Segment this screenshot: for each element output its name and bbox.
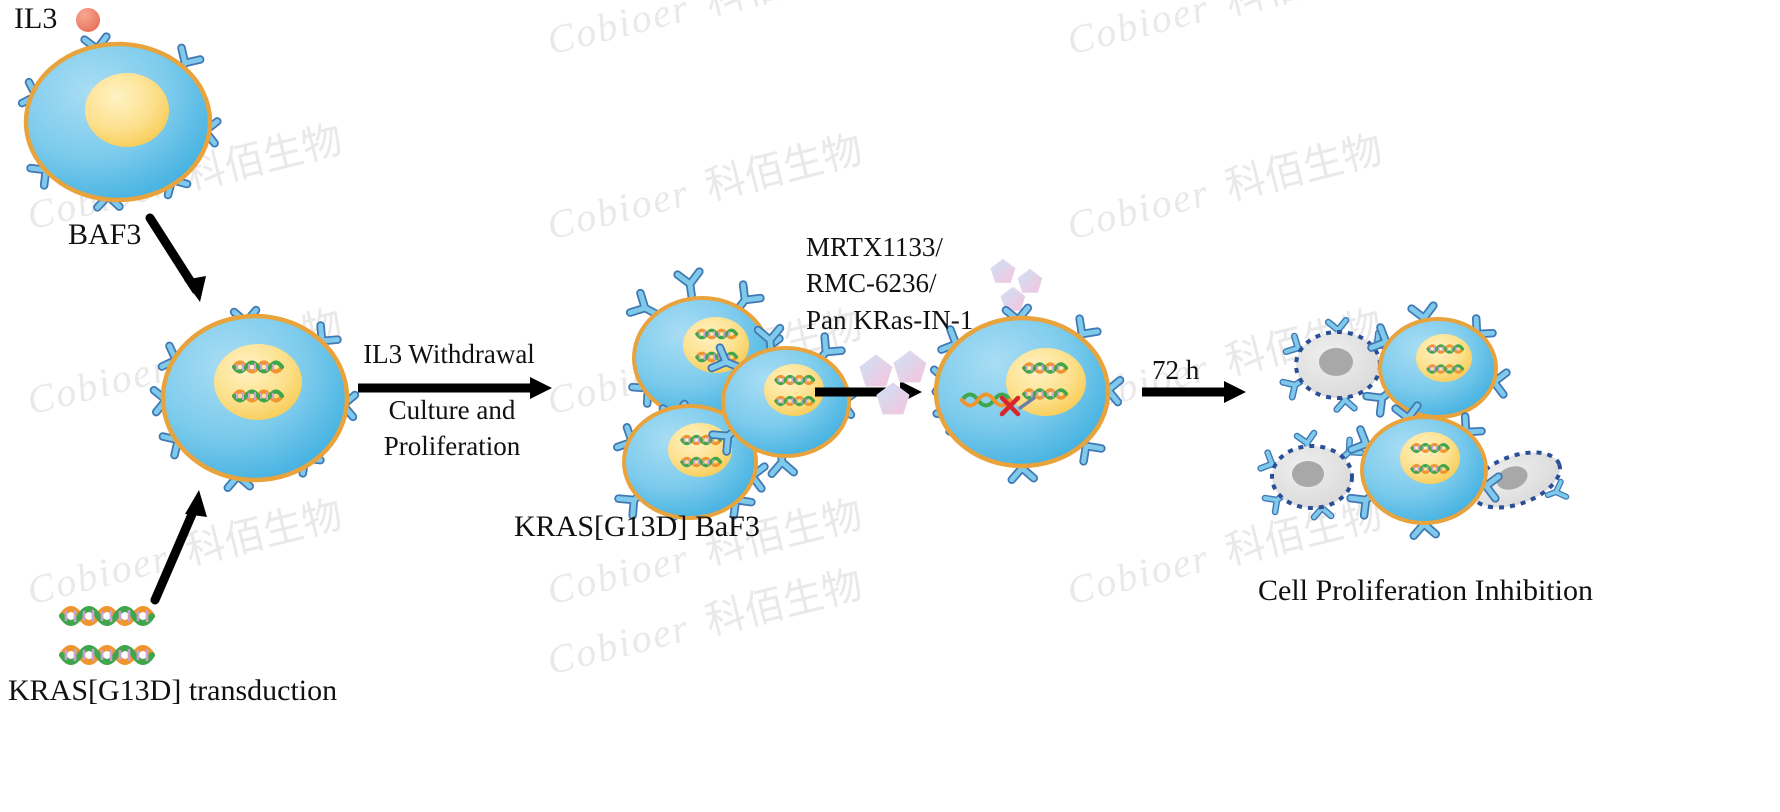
drug-line-2: RMC-6236/ — [806, 265, 973, 301]
kras-dna-construct — [62, 609, 152, 662]
drug-molecule-group-upper — [991, 259, 1042, 310]
incubation-time: 72 h — [1152, 352, 1199, 388]
drug-molecule-group-left — [860, 351, 926, 414]
label-il3: IL3 — [14, 2, 57, 36]
label-kras-transduction: KRAS[G13D] transduction — [8, 674, 337, 708]
outcome-cell-upper-right — [1367, 306, 1507, 432]
dead-cell-lower — [1261, 433, 1361, 517]
arrow-sublabel-culture-proliferation: Culture and Proliferation — [352, 392, 552, 465]
diagram-canvas: Cobioer科佰生物Cobioer科佰生物Cobioer科佰生物Cobioer… — [0, 0, 1780, 812]
arrow-label-drug-treatment: MRTX1133/ RMC-6236/ Pan KRas-IN-1 — [806, 229, 973, 338]
arrow-label-72h: 72 h — [1152, 352, 1199, 388]
withdrawal-below-2: Proliferation — [352, 428, 552, 464]
label-cell-proliferation-inhibition: Cell Proliferation Inhibition — [1258, 574, 1593, 608]
drug-line-3: Pan KRas-IN-1 — [806, 302, 973, 338]
withdrawal-above: IL3 Withdrawal — [356, 336, 542, 372]
withdrawal-below-1: Culture and — [352, 392, 552, 428]
il3-ligand-icon — [76, 8, 100, 32]
cell-baf3-parent — [22, 37, 217, 208]
arrow-dna-to-transduced — [155, 490, 207, 600]
label-baf3: BAF3 — [68, 218, 141, 252]
cell-kras-transduced — [154, 310, 355, 488]
label-kras-baf3: KRAS[G13D] BaF3 — [514, 510, 760, 544]
outcome-cell-lower-right — [1351, 406, 1499, 536]
arrow-baf3-to-transduced — [150, 218, 206, 302]
cell-nucleus — [214, 344, 302, 420]
outcome-cell-group — [1261, 306, 1568, 536]
cell-nucleus — [85, 73, 169, 147]
arrow-label-il3-withdrawal: IL3 Withdrawal — [356, 336, 542, 372]
drug-line-1: MRTX1133/ — [806, 229, 973, 265]
